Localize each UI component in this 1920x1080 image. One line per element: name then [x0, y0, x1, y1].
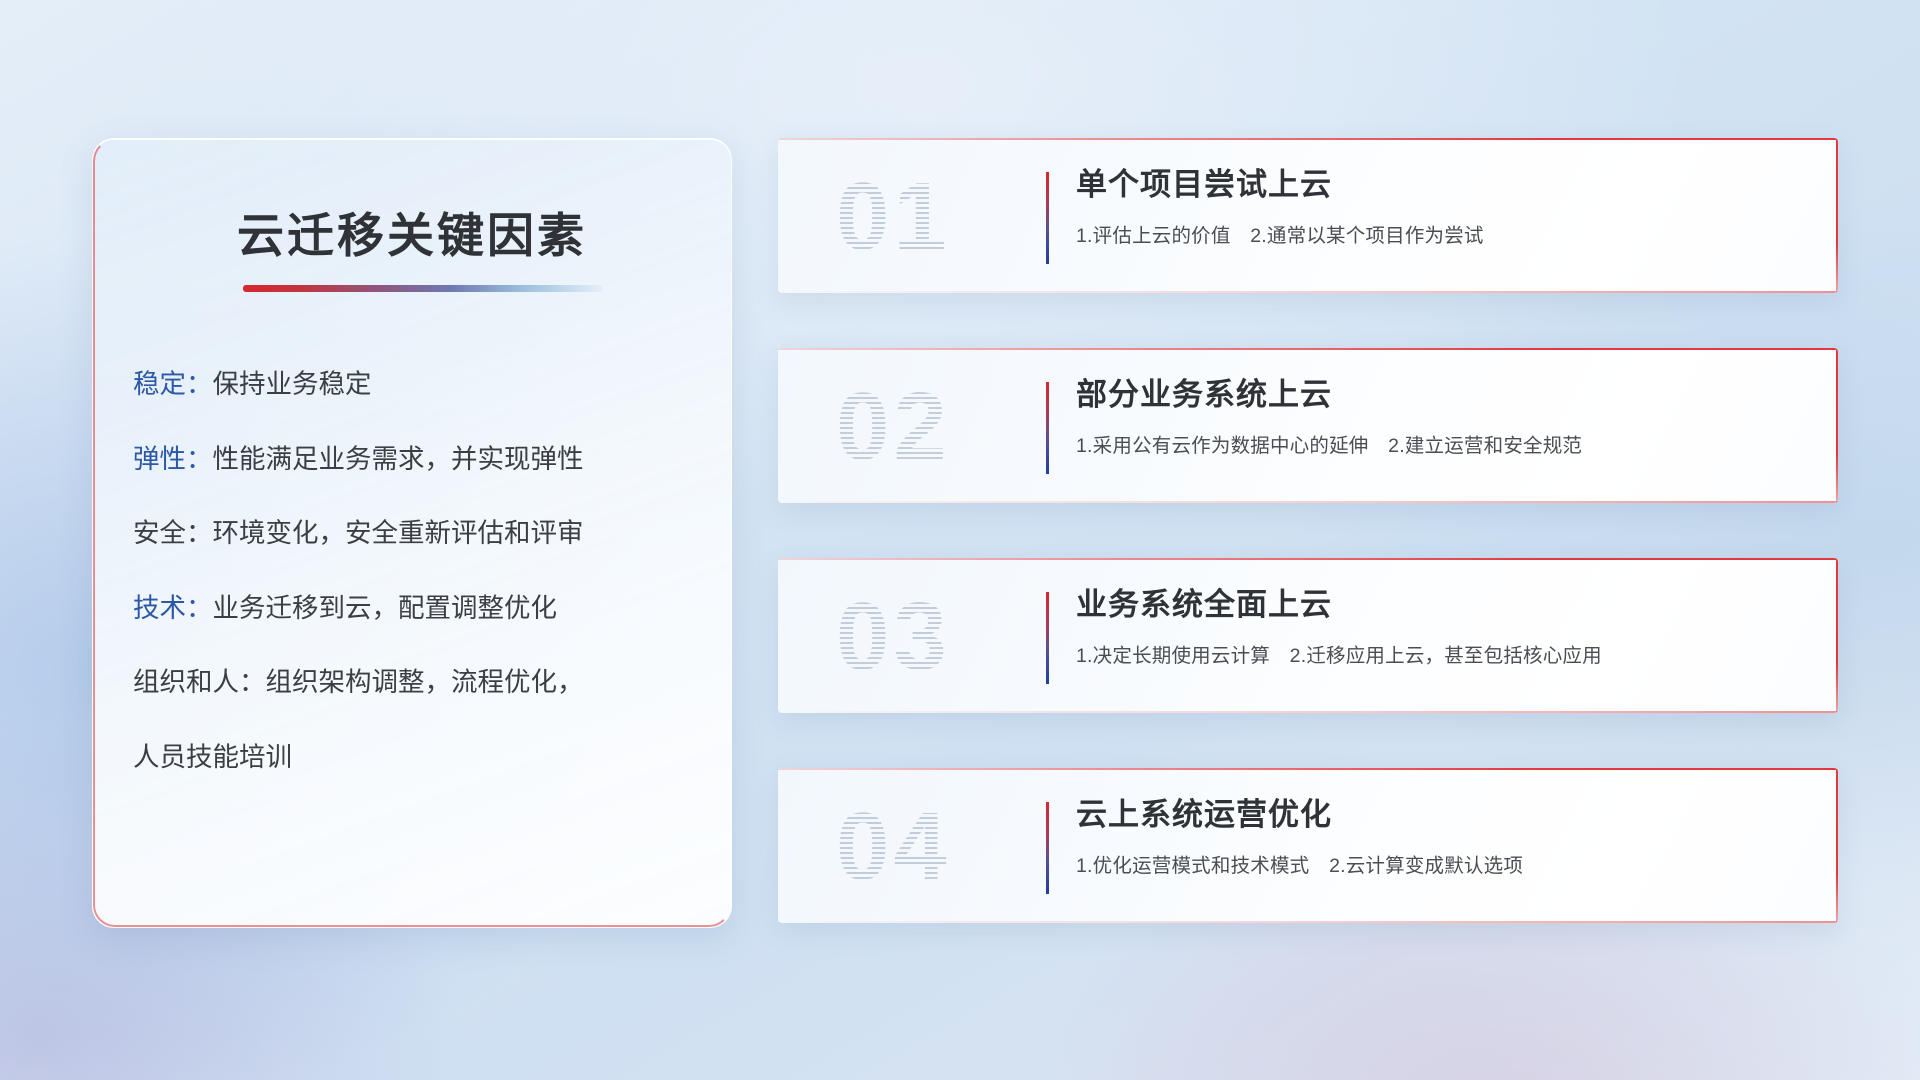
card-divider-bar — [1046, 802, 1049, 894]
stage-card-list: 01 单个项目尝试上云 1.评估上云的价值 2.通常以某个项目作为尝试 02 部… — [778, 138, 1838, 923]
card-body: 业务系统全面上云 1.决定长期使用云计算 2.迁移应用上云，甚至包括核心应用 — [1076, 586, 1810, 668]
card-right-accent — [1836, 348, 1838, 503]
card-step-number: 03 — [836, 582, 1026, 692]
card-divider-bar — [1046, 172, 1049, 264]
factor-list: 稳定：保持业务稳定 弹性：性能满足业务需求，并实现弹性 安全：环境变化，安全重新… — [133, 371, 697, 770]
card-step-number: 02 — [836, 372, 1026, 482]
factor-text: 业务迁移到云，配置调整优化 — [213, 593, 558, 623]
card-subtitle: 1.采用公有云作为数据中心的延伸 2.建立运营和安全规范 — [1076, 429, 1810, 458]
factor-text: 保持业务稳定 — [213, 369, 372, 399]
factor-label: 组织和人： — [133, 667, 266, 697]
card-divider-bar — [1046, 592, 1049, 684]
card-title: 单个项目尝试上云 — [1076, 166, 1810, 205]
card-subtitle: 1.优化运营模式和技术模式 2.云计算变成默认选项 — [1076, 849, 1810, 878]
key-factors-panel: 云迁移关键因素 稳定：保持业务稳定 弹性：性能满足业务需求，并实现弹性 安全：环… — [92, 138, 732, 928]
list-item-continuation: 人员技能培训 — [133, 744, 697, 771]
slide-canvas: 云迁移关键因素 稳定：保持业务稳定 弹性：性能满足业务需求，并实现弹性 安全：环… — [0, 0, 1920, 1080]
card-top-accent — [778, 558, 1838, 560]
card-subtitle: 1.决定长期使用云计算 2.迁移应用上云，甚至包括核心应用 — [1076, 639, 1810, 668]
factor-text: 人员技能培训 — [133, 742, 292, 772]
card-body: 部分业务系统上云 1.采用公有云作为数据中心的延伸 2.建立运营和安全规范 — [1076, 376, 1810, 458]
card-right-accent — [1836, 138, 1838, 293]
factor-label: 技术： — [133, 593, 213, 623]
card-body: 云上系统运营优化 1.优化运营模式和技术模式 2.云计算变成默认选项 — [1076, 796, 1810, 878]
factor-label: 安全： — [133, 518, 213, 548]
list-item: 安全：环境变化，安全重新评估和评审 — [133, 520, 697, 547]
stage-card[interactable]: 02 部分业务系统上云 1.采用公有云作为数据中心的延伸 2.建立运营和安全规范 — [778, 348, 1838, 503]
card-top-accent — [778, 348, 1838, 350]
card-top-accent — [778, 768, 1838, 770]
card-bottom-accent — [778, 501, 1838, 503]
list-item: 技术：业务迁移到云，配置调整优化 — [133, 595, 697, 622]
factor-text: 性能满足业务需求，并实现弹性 — [213, 444, 584, 474]
card-right-accent — [1836, 768, 1838, 923]
factor-text: 环境变化，安全重新评估和评审 — [213, 518, 584, 548]
card-top-accent — [778, 138, 1838, 140]
card-bottom-accent — [778, 921, 1838, 923]
factor-label: 弹性： — [133, 444, 213, 474]
card-title: 部分业务系统上云 — [1076, 376, 1810, 415]
card-title: 云上系统运营优化 — [1076, 796, 1810, 835]
page-title: 云迁移关键因素 — [93, 197, 731, 266]
card-bottom-accent — [778, 291, 1838, 293]
list-item: 组织和人：组织架构调整，流程优化， — [133, 669, 697, 696]
card-title: 业务系统全面上云 — [1076, 586, 1810, 625]
list-item: 弹性：性能满足业务需求，并实现弹性 — [133, 446, 697, 473]
card-step-number: 01 — [836, 162, 1026, 272]
card-divider-bar — [1046, 382, 1049, 474]
card-subtitle: 1.评估上云的价值 2.通常以某个项目作为尝试 — [1076, 219, 1810, 248]
card-step-number: 04 — [836, 792, 1026, 902]
card-right-accent — [1836, 558, 1838, 713]
card-body: 单个项目尝试上云 1.评估上云的价值 2.通常以某个项目作为尝试 — [1076, 166, 1810, 248]
factor-text: 组织架构调整，流程优化， — [266, 667, 584, 697]
card-bottom-accent — [778, 711, 1838, 713]
stage-card[interactable]: 03 业务系统全面上云 1.决定长期使用云计算 2.迁移应用上云，甚至包括核心应… — [778, 558, 1838, 713]
stage-card[interactable]: 04 云上系统运营优化 1.优化运营模式和技术模式 2.云计算变成默认选项 — [778, 768, 1838, 923]
title-underline-rule — [243, 285, 603, 292]
stage-card[interactable]: 01 单个项目尝试上云 1.评估上云的价值 2.通常以某个项目作为尝试 — [778, 138, 1838, 293]
list-item: 稳定：保持业务稳定 — [133, 371, 697, 398]
factor-label: 稳定： — [133, 369, 213, 399]
